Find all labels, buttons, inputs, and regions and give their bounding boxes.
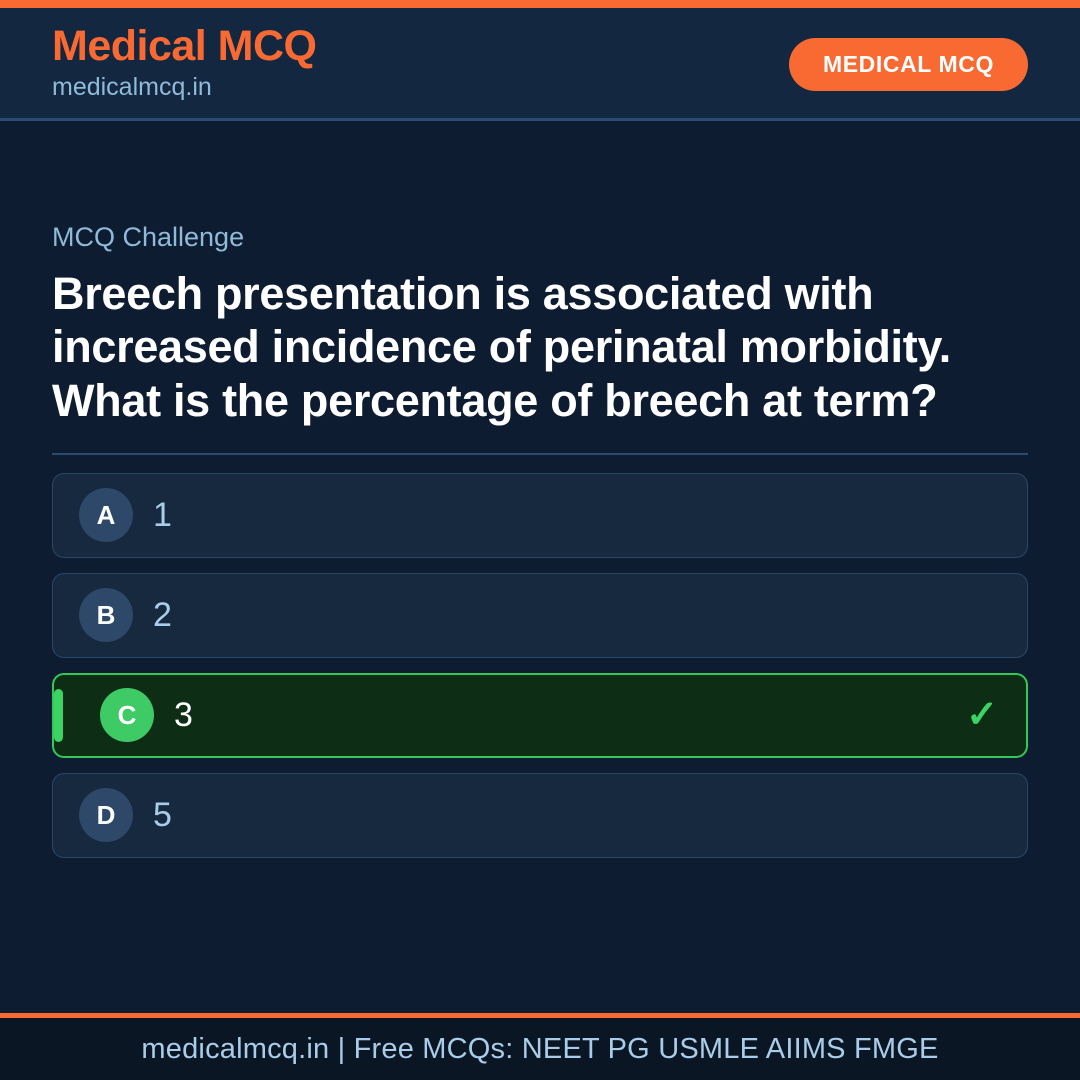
option-c-label: 3 <box>174 698 966 732</box>
footer: medicalmcq.in | Free MCQs: NEET PG USMLE… <box>0 1013 1080 1080</box>
option-d-badge: D <box>79 788 133 842</box>
eyebrow-label: MCQ Challenge <box>52 221 1028 253</box>
option-c-badge: C <box>100 688 154 742</box>
options-list: A 1 B 2 C 3 ✓ D 5 <box>52 473 1028 858</box>
option-a[interactable]: A 1 <box>52 473 1028 558</box>
option-c[interactable]: C 3 ✓ <box>52 673 1028 758</box>
question-text: Breech presentation is associated with i… <box>52 267 1028 426</box>
top-accent-bar <box>0 0 1080 8</box>
option-d[interactable]: D 5 <box>52 773 1028 858</box>
option-b-label: 2 <box>153 598 999 632</box>
brand-title: Medical MCQ <box>52 24 317 69</box>
brand-block: Medical MCQ medicalmcq.in <box>52 24 317 105</box>
brand-subtitle: medicalmcq.in <box>52 71 317 105</box>
mcq-card: Medical MCQ medicalmcq.in MEDICAL MCQ MC… <box>0 0 1080 1080</box>
footer-text: medicalmcq.in | Free MCQs: NEET PG USMLE… <box>141 1033 938 1066</box>
header-badge: MEDICAL MCQ <box>789 38 1028 91</box>
question-divider <box>52 453 1028 455</box>
header: Medical MCQ medicalmcq.in MEDICAL MCQ <box>0 8 1080 121</box>
option-d-label: 5 <box>153 798 999 832</box>
option-a-badge: A <box>79 488 133 542</box>
option-a-label: 1 <box>153 498 999 532</box>
option-b[interactable]: B 2 <box>52 573 1028 658</box>
main-content: MCQ Challenge Breech presentation is ass… <box>0 121 1080 1013</box>
check-icon: ✓ <box>966 696 998 734</box>
option-b-badge: B <box>79 588 133 642</box>
correct-accent-bar <box>54 689 63 742</box>
